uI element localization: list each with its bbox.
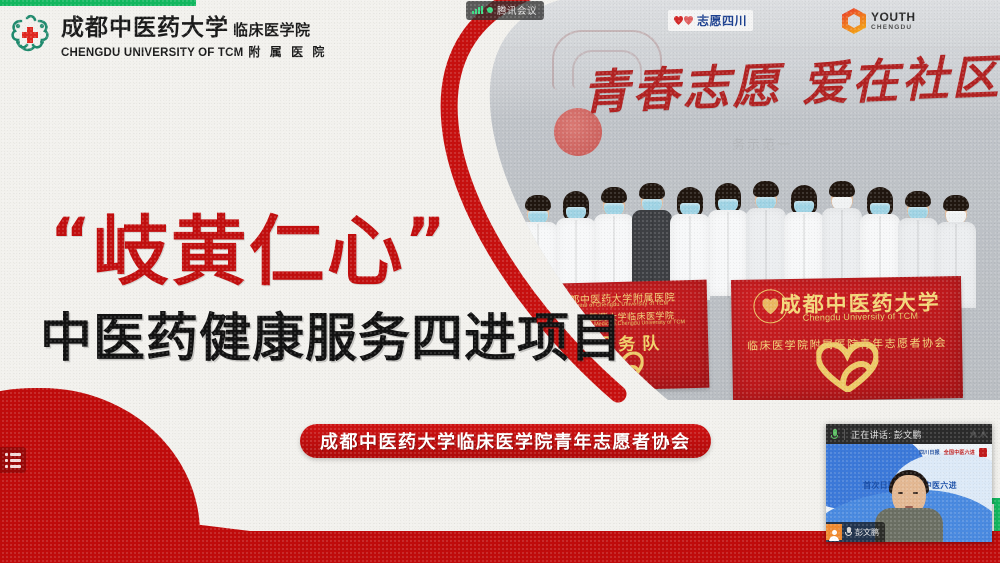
speaking-status-label: 正在讲话: 彭文鹏 [851, 428, 922, 441]
microphone-icon [845, 527, 852, 538]
open-quote: “ [50, 204, 93, 277]
hexagon-icon [842, 8, 866, 34]
heart-hand-logo [816, 341, 879, 392]
youth-in-chengdu-logo: YOUTH CHENGDU [842, 8, 916, 34]
photo-backdrop-headline: 青春志愿 爱在社区 [581, 38, 1000, 123]
logo-cn-suffix: 临床医学院 [233, 19, 311, 40]
slide-stage: 志愿四川 YOUTH CHENGDU 青春志愿 爱在社区 务示范一 [0, 0, 1000, 563]
logo-cn-main: 成都中医药大学 [61, 8, 229, 42]
user-avatar-icon [826, 524, 842, 540]
banner-flag-right: 成都中医药大学 Chengdu University of TCM 临床医学院附… [731, 276, 963, 400]
microphone-icon [831, 429, 838, 440]
video-participant-tile[interactable]: 正在讲话: 彭文鹏 四川日报 全国中医六进 首次日职者 全国中医六进 [826, 424, 992, 542]
status-dot-icon [487, 7, 493, 13]
video-tile-body: 四川日报 全国中医六进 首次日职者 全国中医六进 彭文鹏 [826, 444, 992, 542]
organization-banner-label: 成都中医药大学临床医学院青年志愿者协会 [320, 428, 691, 454]
hospital-logo: 成都中医药大学 临床医学院 CHENGDU UNIVERSITY OF TCM … [8, 8, 327, 60]
hospital-flower-cross-logo-icon [8, 12, 52, 56]
list-menu-icon[interactable] [0, 447, 26, 473]
logo-cn-sub: 附 属 医 院 [248, 43, 327, 60]
sichuan-volunteer-logo: 志愿四川 [668, 10, 753, 31]
participant-name-tag: 彭文鹏 [826, 522, 885, 542]
shared-slide-brand: 四川日报 全国中医六进 [919, 448, 987, 457]
double-chevron-up-icon[interactable] [969, 430, 988, 439]
seal-icon [979, 448, 987, 457]
green-accent-top-left [0, 0, 196, 6]
page-subtitle: 中医药健康服务四进项目 [40, 296, 623, 371]
page-title: “岐黄仁心” [50, 190, 448, 300]
divider [844, 429, 845, 440]
logo-en-main: CHENGDU UNIVERSITY OF TCM [61, 47, 243, 59]
tencent-meeting-badge[interactable]: 腾讯会议 [466, 1, 544, 20]
close-quote: ” [405, 204, 448, 277]
video-tile-header: 正在讲话: 彭文鹏 [826, 424, 992, 444]
meeting-app-label: 腾讯会议 [497, 3, 537, 17]
signal-bars-icon [472, 6, 483, 14]
organization-banner: 成都中医药大学临床医学院青年志愿者协会 [300, 424, 711, 458]
participant-name: 彭文鹏 [855, 527, 879, 538]
red-blob-decoration [0, 388, 200, 563]
title-text: 岐黄仁心 [93, 207, 405, 296]
